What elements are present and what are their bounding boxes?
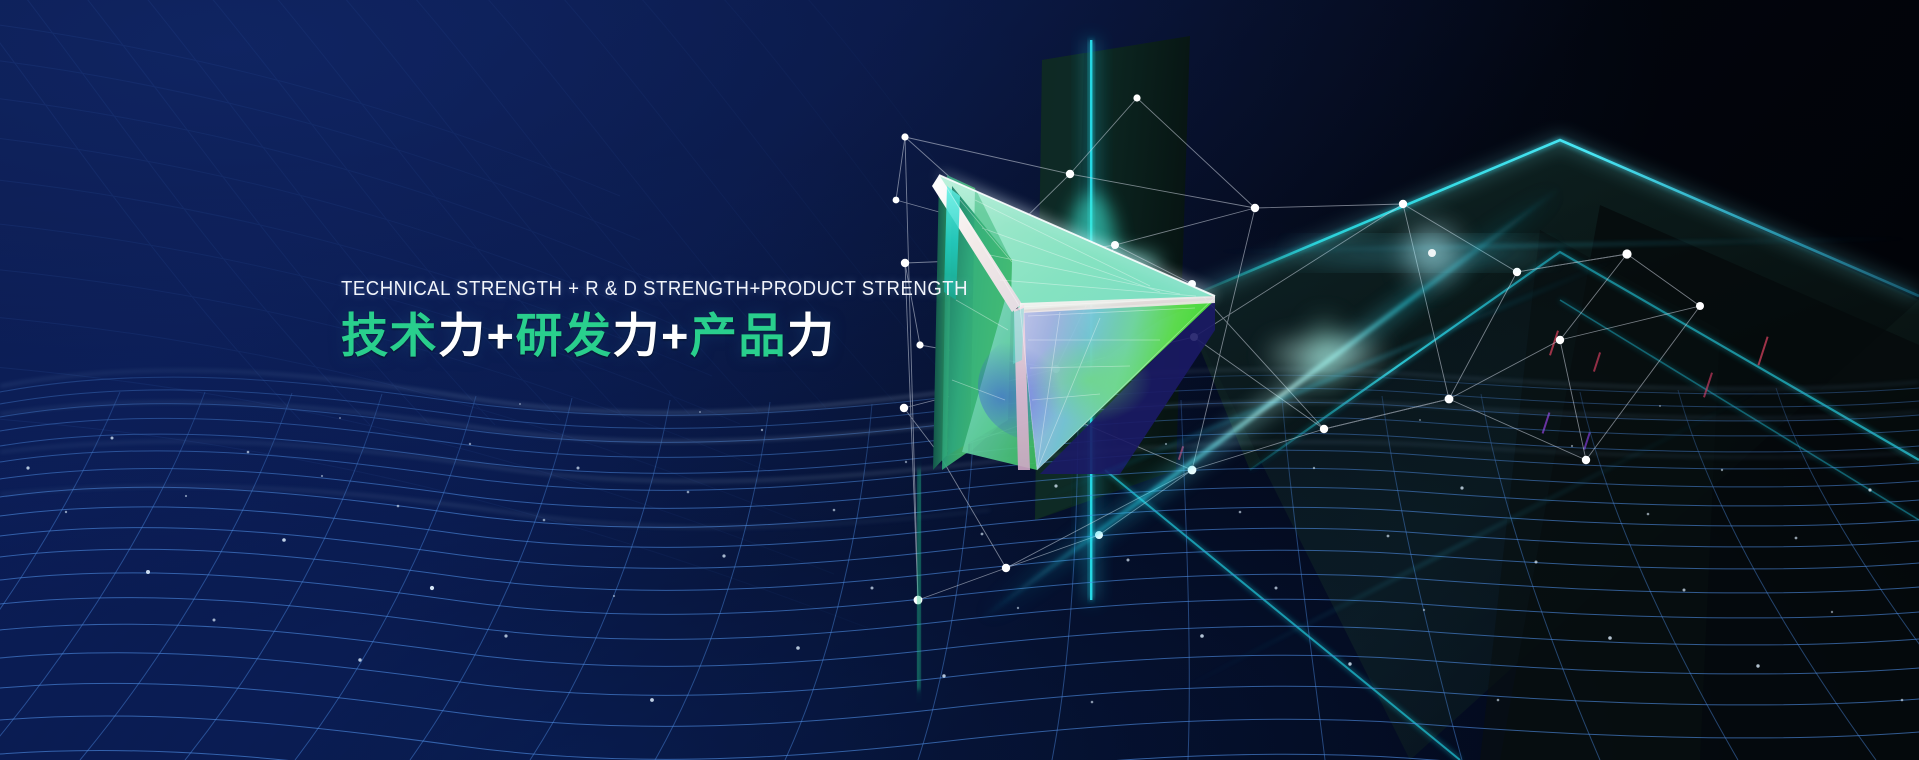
light-streaks (0, 0, 1919, 760)
hero-banner: TECHNICAL STRENGTH + R & D STRENGTH+PROD… (0, 0, 1919, 760)
